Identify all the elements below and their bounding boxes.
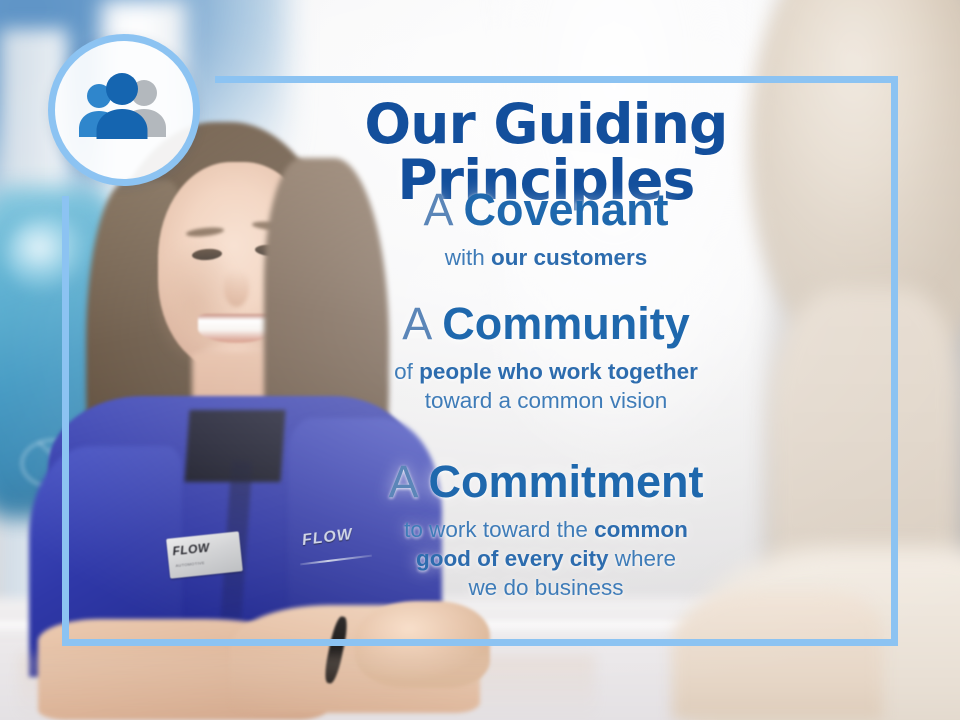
guiding-principles-graphic: FLOW AUTOMOTIVE FLOW xyxy=(0,0,960,720)
principle-covenant: A Covenant with our customers xyxy=(216,187,876,272)
principle-2-keyword: Community xyxy=(442,298,690,349)
principle-3-lead: A xyxy=(388,456,416,507)
principle-community: A Community of people who work togethert… xyxy=(216,301,876,415)
principle-2-lead: A xyxy=(402,298,430,349)
principle-1-subtext: with our customers xyxy=(216,243,876,272)
principle-3-heading: A Commitment xyxy=(216,459,876,506)
principle-1-keyword: Covenant xyxy=(464,184,669,235)
principle-3-subtext: to work toward the commongood of every c… xyxy=(216,515,876,603)
people-badge xyxy=(48,34,200,186)
table-reflection xyxy=(19,655,595,720)
principle-3-keyword: Commitment xyxy=(429,456,704,507)
principle-1-lead: A xyxy=(423,184,451,235)
people-group-icon xyxy=(72,71,176,149)
nametag-subtext: AUTOMOTIVE xyxy=(175,560,205,568)
principle-2-heading: A Community xyxy=(216,301,876,348)
nametag-brand-text: FLOW xyxy=(172,541,211,559)
principle-1-heading: A Covenant xyxy=(216,187,876,234)
principle-2-subtext: of people who work togethertoward a comm… xyxy=(216,357,876,416)
principle-commitment: A Commitment to work toward the commongo… xyxy=(216,459,876,603)
